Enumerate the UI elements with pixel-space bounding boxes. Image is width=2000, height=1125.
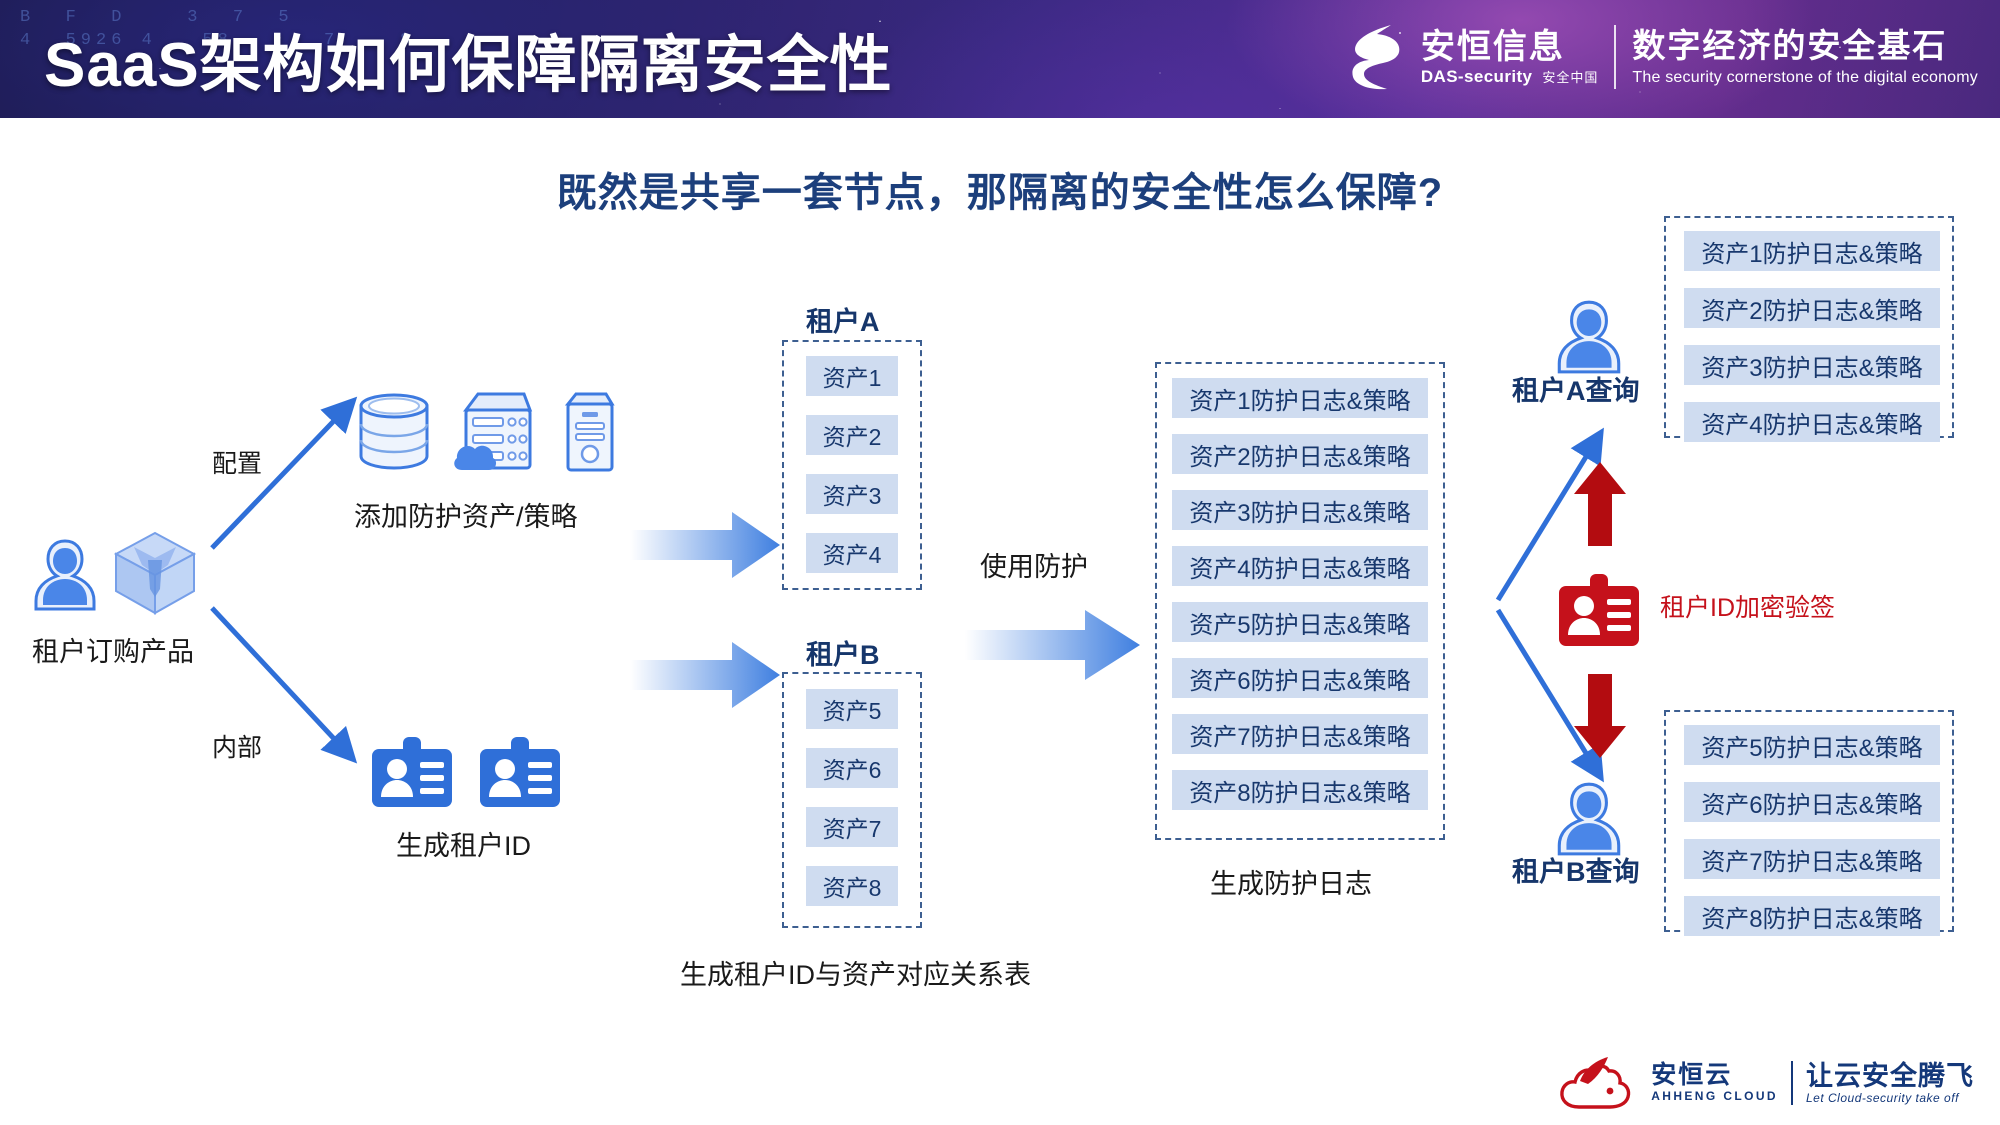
protection-log-item[interactable]: 资产5防护日志&策略 — [1172, 602, 1428, 642]
brand-name-en: DAS-security — [1421, 68, 1533, 86]
database-cylinder-icon — [355, 390, 433, 472]
page-header: B F D 3 7 5 4 5926 4 58 7 8 SaaS架构如何保障隔离… — [0, 0, 2000, 118]
mapping-caption: 生成租户ID与资产对应关系表 — [680, 953, 1031, 992]
red-arrow-down-icon — [1572, 672, 1628, 760]
product-cube-icon — [110, 527, 200, 619]
protection-log-item[interactable]: 资产8防护日志&策略 — [1172, 770, 1428, 810]
arrow-to-tenant-a — [630, 510, 780, 580]
section-subtitle: 既然是共享一套节点，那隔离的安全性怎么保障? — [0, 160, 2000, 218]
query-a-log-item[interactable]: 资产1防护日志&策略 — [1684, 231, 1940, 271]
footer-slogan-en: Let Cloud-security take off — [1806, 1091, 1974, 1106]
red-arrow-up-icon — [1572, 460, 1628, 548]
brand-logo: 安恒信息 DAS-security 安全中国 数字经济的安全基石 The sec… — [1347, 14, 1978, 100]
query-a-log-item[interactable]: 资产3防护日志&策略 — [1684, 345, 1940, 385]
footer-slogan-cn: 让云安全腾飞 — [1806, 1061, 1974, 1091]
tenant-a-asset[interactable]: 资产3 — [806, 474, 898, 514]
query-a-label: 租户A查询 — [1512, 369, 1640, 408]
query-b-log-item[interactable]: 资产7防护日志&策略 — [1684, 839, 1940, 879]
id-badge-icon — [370, 735, 454, 815]
footer-logo-divider — [1791, 1061, 1793, 1105]
logo-divider — [1614, 25, 1616, 89]
tenant-a-asset[interactable]: 资产4 — [806, 533, 898, 573]
server-cloud-icon — [452, 388, 538, 476]
protection-log-item[interactable]: 资产3防护日志&策略 — [1172, 490, 1428, 530]
tenant-b-asset[interactable]: 资产5 — [806, 689, 898, 729]
footer-name-cn: 安恒云 — [1651, 1062, 1778, 1089]
das-swoosh-logo-icon — [1347, 21, 1405, 93]
use-protection-label: 使用防护 — [980, 545, 1088, 584]
query-a-log-item[interactable]: 资产4防护日志&策略 — [1684, 402, 1940, 442]
brand-slogan-cn: 数字经济的安全基石 — [1632, 27, 1978, 65]
arrow-to-tenant-b — [630, 640, 780, 710]
tower-pc-icon — [560, 390, 618, 476]
brand-name-en-cn: 安全中国 — [1542, 70, 1598, 86]
assets-group-label: 添加防护资产/策略 — [354, 495, 578, 534]
tenant-a-asset[interactable]: 资产1 — [806, 356, 898, 396]
red-id-badge-icon — [1556, 572, 1642, 654]
internal-branch-label: 内部 — [212, 728, 262, 764]
query-b-log-item[interactable]: 资产8防护日志&策略 — [1684, 896, 1940, 936]
brand-name-block: 安恒信息 DAS-security 安全中国 — [1421, 28, 1599, 86]
protection-log-item[interactable]: 资产7防护日志&策略 — [1172, 714, 1428, 754]
user-avatar-icon — [1553, 778, 1625, 860]
protection-log-item[interactable]: 资产1防护日志&策略 — [1172, 378, 1428, 418]
query-a-log-item[interactable]: 资产2防护日志&策略 — [1684, 288, 1940, 328]
query-b-label: 租户B查询 — [1512, 850, 1640, 889]
tenant-b-title: 租户B — [806, 633, 880, 672]
tenant-a-title: 租户A — [806, 300, 880, 339]
user-avatar-icon — [30, 535, 100, 615]
order-label: 租户订购产品 — [32, 630, 194, 669]
user-avatar-icon — [1553, 296, 1625, 378]
tenant-b-asset[interactable]: 资产8 — [806, 866, 898, 906]
tenant-a-asset[interactable]: 资产2 — [806, 415, 898, 455]
brand-slogan-block: 数字经济的安全基石 The security cornerstone of th… — [1632, 27, 1978, 88]
cloud-rocket-logo-icon — [1558, 1055, 1638, 1111]
protection-log-item[interactable]: 资产4防护日志&策略 — [1172, 546, 1428, 586]
footer-name-en: AHHENG CLOUD — [1651, 1089, 1778, 1104]
encryption-label: 租户ID加密验签 — [1660, 588, 1835, 624]
brand-name-cn: 安恒信息 — [1421, 28, 1599, 66]
config-branch-label: 配置 — [212, 444, 262, 480]
id-badge-icon — [478, 735, 562, 815]
log-caption: 生成防护日志 — [1210, 862, 1372, 901]
tenant-b-asset[interactable]: 资产6 — [806, 748, 898, 788]
query-b-log-item[interactable]: 资产6防护日志&策略 — [1684, 782, 1940, 822]
arrow-use-protection — [965, 608, 1140, 683]
protection-log-item[interactable]: 资产6防护日志&策略 — [1172, 658, 1428, 698]
tenant-b-asset[interactable]: 资产7 — [806, 807, 898, 847]
footer-logo: 安恒云 AHHENG CLOUD 让云安全腾飞 Let Cloud-securi… — [1558, 1055, 1974, 1111]
query-b-log-item[interactable]: 资产5防护日志&策略 — [1684, 725, 1940, 765]
protection-log-item[interactable]: 资产2防护日志&策略 — [1172, 434, 1428, 474]
tenant-id-group-label: 生成租户ID — [396, 824, 531, 863]
page-title: SaaS架构如何保障隔离安全性 — [44, 14, 893, 104]
brand-slogan-en: The security cornerstone of the digital … — [1632, 68, 1978, 88]
